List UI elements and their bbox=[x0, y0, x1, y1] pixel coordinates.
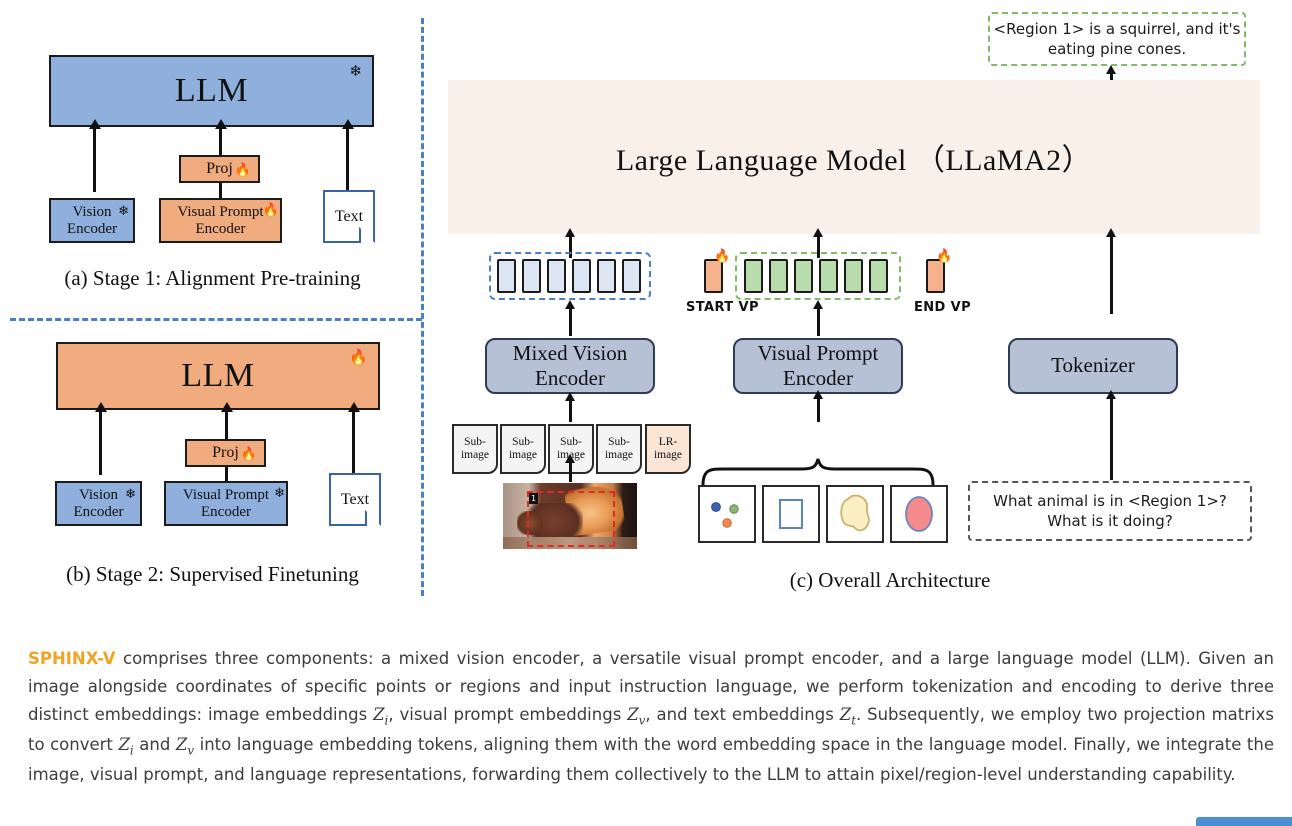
fire-icon: 🔥 bbox=[936, 249, 952, 262]
arrow-source-image-to-subimages bbox=[569, 462, 572, 482]
user-question-line1: What animal is in <Region 1>? bbox=[993, 491, 1227, 511]
panel-c-caption: (c) Overall Architecture bbox=[690, 568, 1090, 593]
math-z-i-2-base: Z bbox=[118, 735, 129, 754]
math-z-i-1-base: Z bbox=[373, 705, 384, 724]
llm-panel: Large Language Model （LLaMA2） bbox=[448, 80, 1260, 234]
end-vp-label: END VP bbox=[914, 300, 971, 315]
panel-b-text-label: Text bbox=[341, 491, 369, 509]
math-z-t: Zt bbox=[840, 705, 856, 724]
image-token bbox=[547, 259, 566, 293]
vp-token bbox=[769, 259, 788, 293]
panel-b-caption: (b) Stage 2: Supervised Finetuning bbox=[20, 562, 405, 587]
sub-image-line1: Sub- bbox=[464, 436, 486, 448]
snowflake-icon: ❄ bbox=[118, 204, 129, 217]
panel-b-arrow-vision bbox=[99, 411, 102, 475]
mixed-vision-encoder-box: Mixed Vision Encoder bbox=[485, 338, 655, 394]
ellipse-icon bbox=[892, 487, 946, 541]
sub-image-line1: Sub- bbox=[608, 436, 630, 448]
panel-b-arrow-text bbox=[352, 411, 355, 475]
panel-a-vision-encoder-line1: Vision bbox=[72, 204, 111, 221]
fire-icon: 🔥 bbox=[263, 203, 279, 216]
panel-a-vp-encoder-line2: Encoder bbox=[196, 221, 246, 238]
sub-image-card: Sub-image bbox=[452, 424, 498, 474]
vp-shape-card-ellipse bbox=[890, 485, 948, 543]
caption-text-2: , visual prompt embeddings bbox=[388, 705, 627, 724]
tokenizer-box: Tokenizer bbox=[1008, 338, 1178, 394]
page-fold-icon bbox=[359, 227, 375, 243]
vp-shape-card-freeform bbox=[826, 485, 884, 543]
user-question-line2: What is it doing? bbox=[1047, 511, 1173, 531]
page-fold-icon bbox=[365, 510, 381, 526]
panel-a-llm-label: LLM bbox=[175, 72, 248, 110]
source-image-squirrel: 1 bbox=[503, 483, 637, 549]
sub-image-card: Sub-image bbox=[596, 424, 642, 474]
caption-text-5: and bbox=[134, 735, 176, 754]
caption-text-6: into language embedding tokens, aligning… bbox=[28, 735, 1274, 784]
math-z-t-base: Z bbox=[840, 705, 851, 724]
arrow-question-to-tokenizer bbox=[1110, 398, 1113, 480]
fire-icon: 🔥 bbox=[235, 163, 251, 176]
panel-b-llm-box: LLM 🔥 bbox=[56, 342, 380, 410]
visual-prompt-encoder-line2: Encoder bbox=[783, 366, 853, 391]
panel-a-arrow-vision bbox=[93, 128, 96, 192]
panel-a-arrow-proj-to-llm bbox=[219, 128, 222, 156]
panel-b-vision-encoder-line2: Encoder bbox=[74, 504, 124, 521]
caption-bold-lead: SPHINX-V bbox=[28, 649, 116, 668]
arrow-vpe-to-vp-tokens bbox=[817, 308, 820, 336]
rectangle-icon bbox=[764, 487, 818, 541]
region-1-tag: 1 bbox=[529, 493, 538, 504]
vp-shape-card-points bbox=[698, 485, 756, 543]
panel-a-proj-box: Proj 🔥 bbox=[179, 155, 260, 183]
mixed-vision-encoder-line1: Mixed Vision bbox=[513, 341, 627, 366]
panel-a-proj-label: Proj bbox=[206, 160, 233, 178]
panel-b-proj-label: Proj bbox=[212, 444, 239, 462]
sub-image-card: Sub-image bbox=[500, 424, 546, 474]
snowflake-icon: ❄ bbox=[125, 487, 136, 500]
vp-token bbox=[844, 259, 863, 293]
user-question-bubble: What animal is in <Region 1>? What is it… bbox=[968, 481, 1252, 541]
image-token bbox=[622, 259, 641, 293]
sub-image-line2: image bbox=[605, 449, 633, 461]
figure-architecture-diagram: LLM ❄ Proj 🔥 Vision Encoder ❄ Visual Pro… bbox=[0, 0, 1292, 610]
lr-image-line1: LR- bbox=[659, 436, 678, 448]
panel-a-vp-encoder-line1: Visual Prompt bbox=[177, 204, 263, 221]
panel-b-vp-encoder-line2: Encoder bbox=[201, 504, 251, 521]
tokenizer-label: Tokenizer bbox=[1051, 353, 1135, 378]
math-z-v-2: Zv bbox=[176, 735, 194, 754]
math-z-v-1-base: Z bbox=[627, 705, 638, 724]
vp-token bbox=[869, 259, 888, 293]
sub-image-line2: image bbox=[461, 449, 489, 461]
visual-prompt-encoder-line1: Visual Prompt bbox=[758, 341, 879, 366]
fire-icon: 🔥 bbox=[349, 351, 368, 366]
panel-b-proj-box: Proj 🔥 bbox=[185, 439, 266, 467]
start-vp-token bbox=[704, 259, 723, 293]
vp-token bbox=[819, 259, 838, 293]
arrow-text-tokens-to-llm bbox=[1110, 236, 1113, 314]
fire-icon: 🔥 bbox=[714, 249, 730, 262]
panel-a-text-label: Text bbox=[335, 208, 363, 226]
math-z-i-1: Zi bbox=[373, 705, 388, 724]
image-token bbox=[572, 259, 591, 293]
panel-a-vision-encoder-box: Vision Encoder ❄ bbox=[49, 198, 135, 243]
fire-icon: 🔥 bbox=[241, 447, 257, 460]
panel-b-llm-label: LLM bbox=[181, 357, 254, 395]
figure-caption-paragraph: SPHINX-V comprises three components: a m… bbox=[28, 645, 1274, 790]
model-output-line1: <Region 1> is a squirrel, and it's bbox=[994, 19, 1241, 39]
sub-image-line2: image bbox=[509, 449, 537, 461]
arrow-vpshapes-to-vpe bbox=[817, 398, 820, 422]
vp-shapes-brace bbox=[697, 458, 939, 486]
snowflake-icon: ❄ bbox=[349, 65, 362, 80]
start-vp-label: START VP bbox=[686, 300, 759, 315]
sub-image-line1: Sub- bbox=[560, 436, 582, 448]
horizontal-dashed-separator bbox=[10, 318, 422, 321]
math-z-v-2-base: Z bbox=[176, 735, 187, 754]
vertical-dashed-separator bbox=[421, 18, 424, 596]
panel-a-llm-box: LLM ❄ bbox=[49, 55, 374, 127]
end-vp-token bbox=[926, 259, 945, 293]
model-output-bubble: <Region 1> is a squirrel, and it's eatin… bbox=[988, 12, 1246, 66]
vp-token bbox=[744, 259, 763, 293]
panel-a-text-page: Text bbox=[323, 190, 375, 243]
panel-a-vision-encoder-line2: Encoder bbox=[67, 221, 117, 238]
lr-image-card: LR-image bbox=[645, 424, 691, 474]
math-z-i-2: Zi bbox=[118, 735, 133, 754]
caption-text-3: , and text embeddings bbox=[645, 705, 839, 724]
vp-shape-card-rectangle bbox=[762, 485, 820, 543]
arrow-subimages-to-mve bbox=[569, 400, 572, 422]
vp-token bbox=[794, 259, 813, 293]
image-token bbox=[522, 259, 541, 293]
snowflake-icon: ❄ bbox=[274, 486, 285, 499]
panel-b-vision-encoder-box: Vision Encoder ❄ bbox=[55, 481, 142, 526]
free-form-scribble-icon bbox=[828, 487, 882, 541]
panel-b-vp-encoder-line1: Visual Prompt bbox=[183, 487, 269, 504]
llm-panel-label: Large Language Model （LLaMA2） bbox=[616, 135, 1092, 179]
region-1-bbox bbox=[527, 491, 615, 547]
taskbar-strip[interactable] bbox=[1196, 817, 1292, 826]
visual-prompt-encoder-box: Visual Prompt Encoder bbox=[733, 338, 903, 394]
points-icon bbox=[700, 487, 754, 541]
arrow-mve-to-image-tokens bbox=[569, 308, 572, 336]
image-token bbox=[497, 259, 516, 293]
panel-b-vp-encoder-box: Visual Prompt Encoder ❄ bbox=[164, 481, 288, 526]
model-output-line2: eating pine cones. bbox=[1048, 39, 1186, 59]
panel-b-text-page: Text bbox=[329, 473, 381, 526]
image-token bbox=[597, 259, 616, 293]
panel-b-vision-encoder-line1: Vision bbox=[79, 487, 118, 504]
mixed-vision-encoder-line2: Encoder bbox=[535, 366, 605, 391]
sub-image-line1: Sub- bbox=[512, 436, 534, 448]
panel-a-caption: (a) Stage 1: Alignment Pre-training bbox=[20, 266, 405, 291]
panel-a-arrow-text bbox=[346, 128, 349, 192]
lr-image-line2: image bbox=[654, 449, 682, 461]
panel-a-vp-encoder-box: Visual Prompt Encoder 🔥 bbox=[159, 198, 282, 243]
math-z-v-1: Zv bbox=[627, 705, 645, 724]
panel-b-arrow-proj-to-llm bbox=[225, 411, 228, 440]
